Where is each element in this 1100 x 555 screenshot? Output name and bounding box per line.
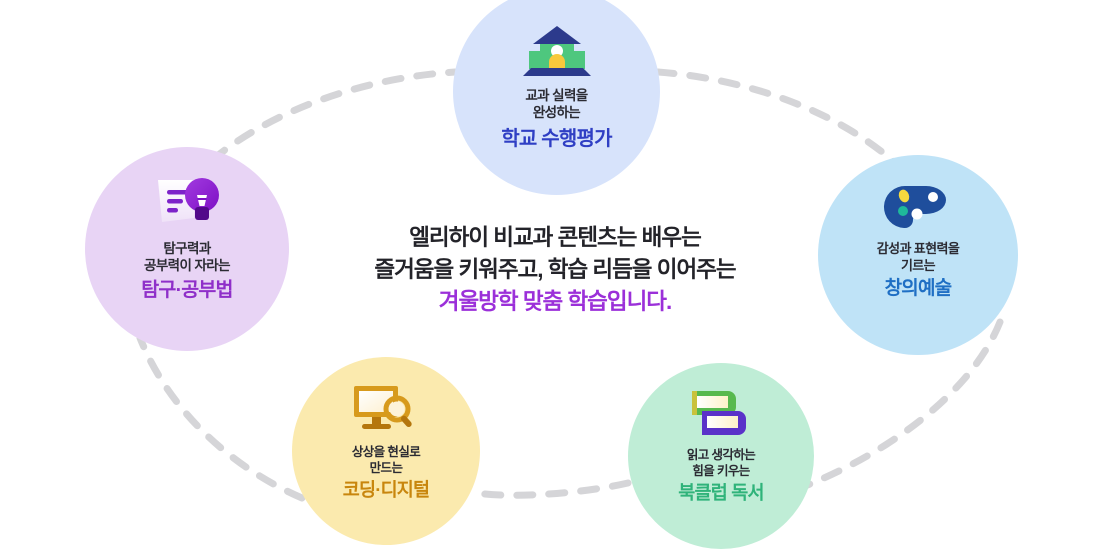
node-book-subtitle: 읽고 생각하는 힘을 키우는 — [687, 447, 755, 479]
node-coding-subtitle: 상상을 현실로 만드는 — [352, 444, 420, 476]
headline-line-3: 겨울방학 맞춤 학습입니다. — [300, 286, 810, 318]
connector-coding-to-study — [140, 338, 302, 498]
center-headline: 엘리하이 비교과 콘텐츠는 배우는 즐거움을 키워주고, 학습 리듬을 이어주는… — [300, 222, 810, 318]
connector-book-to-coding — [470, 483, 628, 495]
node-study[interactable]: 탐구력과 공부력이 자라는 탐구·공부법 — [85, 147, 289, 351]
node-study-title: 탐구·공부법 — [141, 279, 232, 302]
node-coding-title: 코딩·디지털 — [343, 479, 429, 501]
headline-line-1: 엘리하이 비교과 콘텐츠는 배우는 — [300, 222, 810, 254]
paint-palette-icon — [881, 183, 955, 231]
node-art-subtitle: 감성과 표현력을 기르는 — [877, 241, 960, 274]
node-book-title: 북클럽 독서 — [678, 482, 763, 504]
node-art-title: 창의예술 — [885, 278, 952, 301]
headline-line-2: 즐거움을 키워주고, 학습 리듬을 이어주는 — [300, 254, 810, 286]
connector-school-to-art — [658, 72, 905, 172]
node-school-title: 학교 수행평가 — [501, 127, 611, 151]
node-study-subtitle: 탐구력과 공부력이 자라는 — [144, 240, 230, 275]
stacked-books-icon — [688, 389, 754, 437]
node-coding[interactable]: 상상을 현실로 만드는 코딩·디지털 — [292, 357, 480, 545]
school-building-icon — [519, 24, 595, 78]
document-lightbulb-icon — [150, 174, 224, 230]
monitor-magnifier-icon — [350, 383, 422, 435]
node-school[interactable]: 교과 실력을 완성하는 학교 수행평가 — [453, 0, 660, 195]
connector-study-to-school — [212, 72, 455, 160]
node-art[interactable]: 감성과 표현력을 기르는 창의예술 — [818, 155, 1018, 355]
node-book[interactable]: 읽고 생각하는 힘을 키우는 북클럽 독서 — [628, 363, 814, 549]
infographic-canvas: 교과 실력을 완성하는 학교 수행평가 — [0, 0, 1100, 555]
node-school-subtitle: 교과 실력을 완성하는 — [525, 87, 587, 122]
